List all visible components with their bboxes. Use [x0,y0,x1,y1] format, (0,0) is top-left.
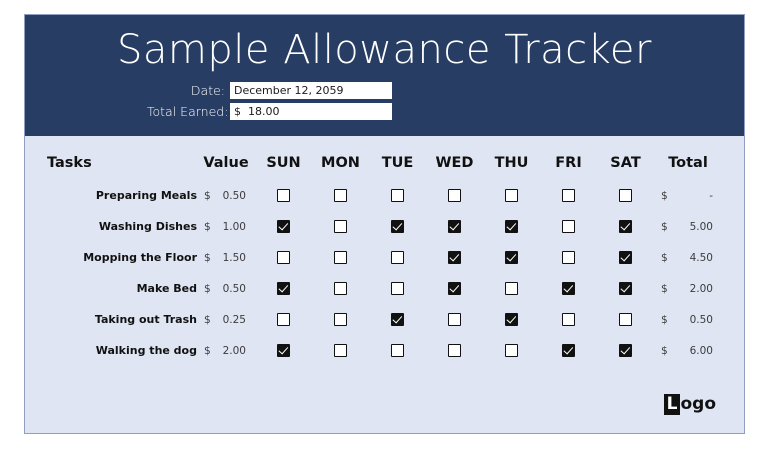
currency-symbol: $ [661,221,668,233]
currency-symbol: $ [661,190,668,202]
checkbox-unchecked-icon[interactable] [334,189,347,202]
task-label: Make Bed [47,273,197,304]
checkbox-cell-sun[interactable] [255,180,312,211]
task-total: $4.50 [654,242,722,273]
column-header-wed: WED [426,146,483,180]
column-header-sun: SUN [255,146,312,180]
checkbox-cell-tue[interactable] [369,211,426,242]
value-amount: 1.00 [223,221,246,233]
checkbox-cell-wed[interactable] [426,335,483,366]
checkbox-cell-thu[interactable] [483,304,540,335]
checkbox-unchecked-icon[interactable] [448,189,461,202]
checkbox-unchecked-icon[interactable] [562,251,575,264]
date-input[interactable] [230,82,392,99]
checkbox-unchecked-icon[interactable] [277,313,290,326]
checkbox-cell-sat[interactable] [597,335,654,366]
task-label: Taking out Trash [47,304,197,335]
value-amount: 2.00 [223,345,246,357]
checkbox-cell-tue[interactable] [369,242,426,273]
checkbox-checked-icon[interactable] [619,344,632,357]
value-amount: 1.50 [223,252,246,264]
column-header-value: Value [197,146,255,180]
checkbox-unchecked-icon[interactable] [391,282,404,295]
checkbox-cell-fri[interactable] [540,180,597,211]
table-row: Make Bed$0.50$2.00 [47,273,722,304]
checkbox-cell-thu[interactable] [483,335,540,366]
checkbox-cell-sat[interactable] [597,211,654,242]
task-label: Preparing Meals [47,180,197,211]
checkbox-unchecked-icon[interactable] [277,251,290,264]
checkbox-unchecked-icon[interactable] [334,313,347,326]
checkbox-checked-icon[interactable] [277,344,290,357]
total-amount: - [709,190,713,202]
checkbox-checked-icon[interactable] [448,282,461,295]
task-value: $2.00 [197,335,255,366]
checkbox-cell-thu[interactable] [483,180,540,211]
currency-symbol: $ [204,314,211,326]
checkbox-cell-sun[interactable] [255,242,312,273]
date-label: Date: [147,83,230,98]
task-label: Walking the dog [47,335,197,366]
checkbox-cell-thu[interactable] [483,273,540,304]
task-value: $0.25 [197,304,255,335]
checkbox-checked-icon[interactable] [505,313,518,326]
total-amount: 4.50 [690,252,713,264]
allowance-table: Tasks Value SUN MON TUE WED THU FRI SAT … [47,146,722,366]
total-earned-label: Total Earned: [147,104,230,119]
checkbox-checked-icon[interactable] [505,251,518,264]
checkbox-cell-fri[interactable] [540,304,597,335]
checkbox-cell-thu[interactable] [483,242,540,273]
checkbox-checked-icon[interactable] [391,313,404,326]
checkbox-unchecked-icon[interactable] [505,282,518,295]
checkbox-cell-mon[interactable] [312,304,369,335]
checkbox-cell-sat[interactable] [597,180,654,211]
column-header-tasks: Tasks [47,146,197,180]
column-header-sat: SAT [597,146,654,180]
table-row: Mopping the Floor$1.50$4.50 [47,242,722,273]
total-amount: 2.00 [690,283,713,295]
task-value: $1.50 [197,242,255,273]
value-amount: 0.50 [223,190,246,202]
task-value: $0.50 [197,273,255,304]
total-amount: 5.00 [690,221,713,233]
tracker-body: Tasks Value SUN MON TUE WED THU FRI SAT … [25,136,744,433]
checkbox-cell-mon[interactable] [312,211,369,242]
checkbox-checked-icon[interactable] [448,251,461,264]
header-band: Sample Allowance Tracker Date: Total Ear… [25,15,744,136]
checkbox-cell-tue[interactable] [369,335,426,366]
task-value: $1.00 [197,211,255,242]
total-earned-row: Total Earned: [25,103,744,120]
checkbox-unchecked-icon[interactable] [562,220,575,233]
value-amount: 0.50 [223,283,246,295]
checkbox-unchecked-icon[interactable] [448,313,461,326]
checkbox-unchecked-icon[interactable] [619,189,632,202]
checkbox-cell-wed[interactable] [426,211,483,242]
checkbox-checked-icon[interactable] [562,282,575,295]
checkbox-unchecked-icon[interactable] [505,344,518,357]
task-label: Washing Dishes [47,211,197,242]
currency-symbol: $ [204,283,211,295]
table-header: Tasks Value SUN MON TUE WED THU FRI SAT … [47,146,722,180]
currency-symbol: $ [204,345,211,357]
checkbox-checked-icon[interactable] [619,251,632,264]
checkbox-checked-icon[interactable] [562,344,575,357]
table-row: Washing Dishes$1.00$5.00 [47,211,722,242]
currency-symbol: $ [661,345,668,357]
logo: Logo [664,394,716,415]
checkbox-cell-sun[interactable] [255,273,312,304]
checkbox-cell-fri[interactable] [540,273,597,304]
checkbox-unchecked-icon[interactable] [391,344,404,357]
logo-mark: L [664,394,681,415]
column-header-fri: FRI [540,146,597,180]
checkbox-cell-sat[interactable] [597,242,654,273]
table-body: Preparing Meals$0.50$-Washing Dishes$1.0… [47,180,722,366]
checkbox-checked-icon[interactable] [277,282,290,295]
page-title: Sample Allowance Tracker [25,25,744,80]
checkbox-cell-fri[interactable] [540,335,597,366]
checkbox-cell-wed[interactable] [426,242,483,273]
checkbox-cell-sun[interactable] [255,335,312,366]
task-value: $0.50 [197,180,255,211]
logo-text: ogo [680,396,716,413]
checkbox-unchecked-icon[interactable] [334,220,347,233]
checkbox-cell-fri[interactable] [540,211,597,242]
checkbox-cell-wed[interactable] [426,273,483,304]
total-earned-input[interactable] [230,103,392,120]
column-header-mon: MON [312,146,369,180]
task-total: $5.00 [654,211,722,242]
checkbox-unchecked-icon[interactable] [334,251,347,264]
task-total: $0.50 [654,304,722,335]
checkbox-cell-mon[interactable] [312,242,369,273]
table-row: Taking out Trash$0.25$0.50 [47,304,722,335]
checkbox-unchecked-icon[interactable] [619,313,632,326]
checkbox-unchecked-icon[interactable] [391,251,404,264]
checkbox-checked-icon[interactable] [619,282,632,295]
checkbox-checked-icon[interactable] [505,220,518,233]
checkbox-unchecked-icon[interactable] [562,189,575,202]
checkbox-cell-sun[interactable] [255,304,312,335]
checkbox-cell-mon[interactable] [312,335,369,366]
checkbox-cell-tue[interactable] [369,304,426,335]
checkbox-unchecked-icon[interactable] [334,282,347,295]
total-amount: 0.50 [690,314,713,326]
checkbox-checked-icon[interactable] [391,220,404,233]
total-amount: 6.00 [690,345,713,357]
checkbox-checked-icon[interactable] [277,220,290,233]
checkbox-cell-sat[interactable] [597,304,654,335]
checkbox-cell-sun[interactable] [255,211,312,242]
column-header-tue: TUE [369,146,426,180]
task-label: Mopping the Floor [47,242,197,273]
checkbox-unchecked-icon[interactable] [391,189,404,202]
checkbox-unchecked-icon[interactable] [562,313,575,326]
checkbox-unchecked-icon[interactable] [334,344,347,357]
task-total: $- [654,180,722,211]
checkbox-cell-thu[interactable] [483,211,540,242]
task-total: $6.00 [654,335,722,366]
column-header-thu: THU [483,146,540,180]
currency-symbol: $ [204,252,211,264]
checkbox-cell-fri[interactable] [540,242,597,273]
currency-symbol: $ [204,221,211,233]
date-row: Date: [25,82,744,99]
currency-symbol: $ [661,314,668,326]
checkbox-checked-icon[interactable] [619,220,632,233]
checkbox-cell-sat[interactable] [597,273,654,304]
task-total: $2.00 [654,273,722,304]
checkbox-cell-mon[interactable] [312,273,369,304]
column-header-total: Total [654,146,722,180]
checkbox-cell-mon[interactable] [312,180,369,211]
currency-symbol: $ [661,283,668,295]
checkbox-unchecked-icon[interactable] [277,189,290,202]
table-row: Walking the dog$2.00$6.00 [47,335,722,366]
checkbox-unchecked-icon[interactable] [448,344,461,357]
checkbox-cell-wed[interactable] [426,304,483,335]
checkbox-cell-tue[interactable] [369,273,426,304]
header-fields: Date: Total Earned: [25,82,744,120]
table-header-row: Tasks Value SUN MON TUE WED THU FRI SAT … [47,146,722,180]
currency-symbol: $ [204,190,211,202]
table-row: Preparing Meals$0.50$- [47,180,722,211]
tracker-card: Sample Allowance Tracker Date: Total Ear… [24,14,745,434]
checkbox-cell-wed[interactable] [426,180,483,211]
checkbox-unchecked-icon[interactable] [505,189,518,202]
currency-symbol: $ [661,252,668,264]
checkbox-cell-tue[interactable] [369,180,426,211]
value-amount: 0.25 [223,314,246,326]
checkbox-checked-icon[interactable] [448,220,461,233]
